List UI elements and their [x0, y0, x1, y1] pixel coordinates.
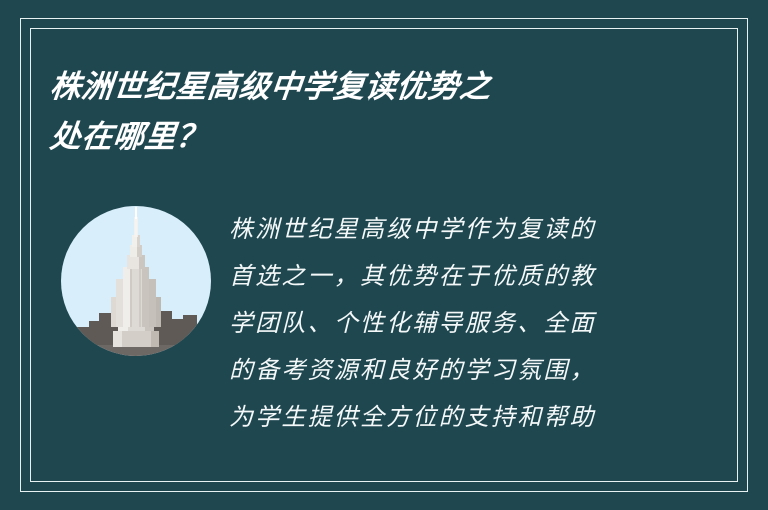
body-line-3: 学团队、个性化辅导服务、全面 [229, 300, 661, 347]
body-line-2: 首选之一，其优势在于优质的教 [229, 253, 661, 300]
title-line-1: 株洲世纪星高级中学复读优势之 [47, 62, 612, 112]
body-line-1: 株洲世纪星高级中学作为复读的 [229, 206, 661, 253]
empire-state-building-illustration [61, 205, 211, 357]
title-line-2: 处在哪里？ [47, 112, 612, 162]
body-line-5: 为学生提供全方位的支持和帮助 [229, 394, 661, 441]
article-body: 株洲世纪星高级中学作为复读的 首选之一，其优势在于优质的教 学团队、个性化辅导服… [229, 206, 661, 441]
antenna-mast [134, 217, 138, 237]
article-card: 株洲世纪星高级中学复读优势之 处在哪里？ [0, 0, 768, 510]
body-line-4: 的备考资源和良好的学习氛围， [229, 347, 661, 394]
page-title: 株洲世纪星高级中学复读优势之 处在哪里？ [50, 62, 610, 162]
